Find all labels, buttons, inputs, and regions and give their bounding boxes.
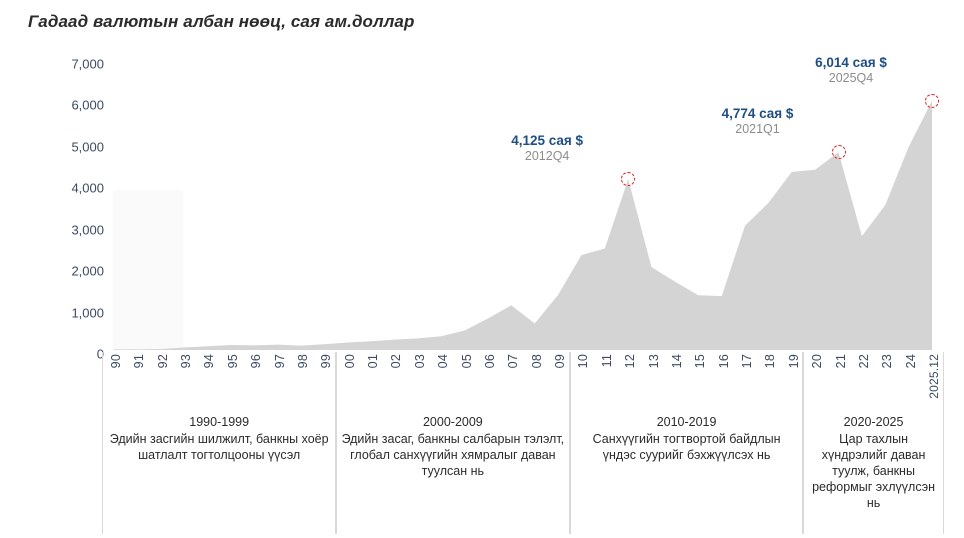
x-axis-tick: 94 [202, 354, 216, 368]
x-axis-tick: 09 [553, 354, 567, 368]
x-axis-tick: 10 [576, 354, 590, 368]
period-caption-years: 2000-2009 [341, 414, 565, 430]
period-caption-text: Санхүүгийн тогтвортой байдлын үндэс суур… [575, 431, 799, 463]
x-axis-tick: 17 [740, 354, 754, 368]
plot-area [112, 60, 936, 350]
y-axis-tick: 4,000 [71, 181, 104, 196]
x-axis-tick: 16 [717, 354, 731, 368]
y-axis-tick: 6,000 [71, 98, 104, 113]
peak-annotation: 4,125 сая $2012Q4 [478, 133, 616, 164]
y-axis-tick: 5,000 [71, 139, 104, 154]
x-axis-tick-group: 20212223242025.12 [804, 352, 942, 408]
y-axis-tick: 7,000 [71, 57, 104, 72]
period-caption: 2010-2019Санхүүгийн тогтвортой байдлын ү… [575, 414, 799, 463]
annotation-value: 4,125 сая $ [478, 133, 616, 149]
peak-annotation: 6,014 сая $2025Q4 [782, 55, 920, 86]
y-axis: 7,0006,0005,0004,0003,0002,0001,0000 [40, 62, 104, 354]
period-caption: 2020-2025Цар тахлын хүндрэлийг даван туу… [808, 414, 938, 511]
x-axis-tick: 23 [880, 354, 894, 368]
annotation-period: 2025Q4 [782, 71, 920, 86]
x-axis-tick: 12 [623, 354, 637, 368]
y-axis-tick: 1,000 [71, 305, 104, 320]
period-caption-years: 2020-2025 [808, 414, 938, 430]
chart-plot-wrapper: 7,0006,0005,0004,0003,0002,0001,0000 4,1… [0, 0, 964, 538]
period-caption-years: 2010-2019 [575, 414, 799, 430]
x-axis-tick: 97 [273, 354, 287, 368]
x-axis-tick: 05 [460, 354, 474, 368]
x-axis-tick: 11 [600, 354, 614, 367]
x-axis-panels: 909192939495969798991990-1999Эдийн засги… [112, 352, 936, 534]
x-axis-tick: 01 [366, 354, 380, 368]
peak-marker-icon [832, 145, 846, 159]
x-axis-tick: 22 [857, 354, 871, 368]
x-axis-tick: 93 [179, 354, 193, 368]
x-axis-tick: 2025.12 [927, 354, 941, 399]
x-axis-tick: 95 [226, 354, 240, 368]
x-axis-tick: 04 [436, 354, 450, 368]
annotation-value: 4,774 сая $ [689, 106, 827, 122]
period-panel: 20212223242025.122020-2025Цар тахлын хүн… [803, 352, 943, 534]
x-axis-tick: 14 [670, 354, 684, 368]
annotation-period: 2021Q1 [689, 122, 827, 137]
x-axis-tick: 08 [530, 354, 544, 368]
peak-annotation: 4,774 сая $2021Q1 [689, 106, 827, 137]
x-axis-tick: 96 [249, 354, 263, 368]
period-caption-text: Эдийн засаг, банкны салбарын тэлэлт, гло… [341, 431, 565, 479]
x-axis-tick: 92 [156, 354, 170, 368]
x-axis-tick-group: 90919293949596979899 [103, 352, 335, 408]
x-axis-tick: 07 [506, 354, 520, 368]
period-panel: 101112131415161718192010-2019Санхүүгийн … [570, 352, 804, 534]
x-axis-tick: 18 [763, 354, 777, 368]
period-caption-text: Цар тахлын хүндрэлийг даван туулж, банкн… [808, 431, 938, 511]
x-axis-tick: 00 [343, 354, 357, 368]
x-axis-tick: 91 [132, 354, 146, 368]
annotation-period: 2012Q4 [478, 149, 616, 164]
peak-marker-icon [925, 94, 939, 108]
x-axis-tick: 13 [647, 354, 661, 368]
annotation-value: 6,014 сая $ [782, 55, 920, 71]
x-axis-tick: 90 [109, 354, 123, 368]
x-axis-tick: 15 [693, 354, 707, 368]
x-axis-tick: 19 [787, 354, 801, 368]
x-axis-tick: 98 [296, 354, 310, 368]
x-axis-tick: 06 [483, 354, 497, 368]
x-axis-tick: 03 [413, 354, 427, 368]
x-axis-tick: 02 [389, 354, 403, 368]
y-axis-tick: 3,000 [71, 222, 104, 237]
period-caption: 2000-2009Эдийн засаг, банкны салбарын тэ… [341, 414, 565, 479]
x-axis-tick: 20 [810, 354, 824, 368]
area-series [112, 60, 936, 350]
y-axis-tick: 2,000 [71, 264, 104, 279]
period-panel: 909192939495969798991990-1999Эдийн засги… [102, 352, 336, 534]
x-axis-tick-group: 00010203040506070809 [337, 352, 569, 408]
x-axis-tick: 21 [834, 354, 848, 368]
x-axis-tick-group: 10111213141516171819 [571, 352, 803, 408]
x-axis-tick: 99 [319, 354, 333, 368]
period-caption-text: Эдийн засгийн шилжилт, банкны хоёр шатла… [107, 431, 331, 463]
period-caption: 1990-1999Эдийн засгийн шилжилт, банкны х… [107, 414, 331, 463]
x-axis-tick: 24 [904, 354, 918, 368]
period-caption-years: 1990-1999 [107, 414, 331, 430]
period-panel: 000102030405060708092000-2009Эдийн засаг… [336, 352, 570, 534]
